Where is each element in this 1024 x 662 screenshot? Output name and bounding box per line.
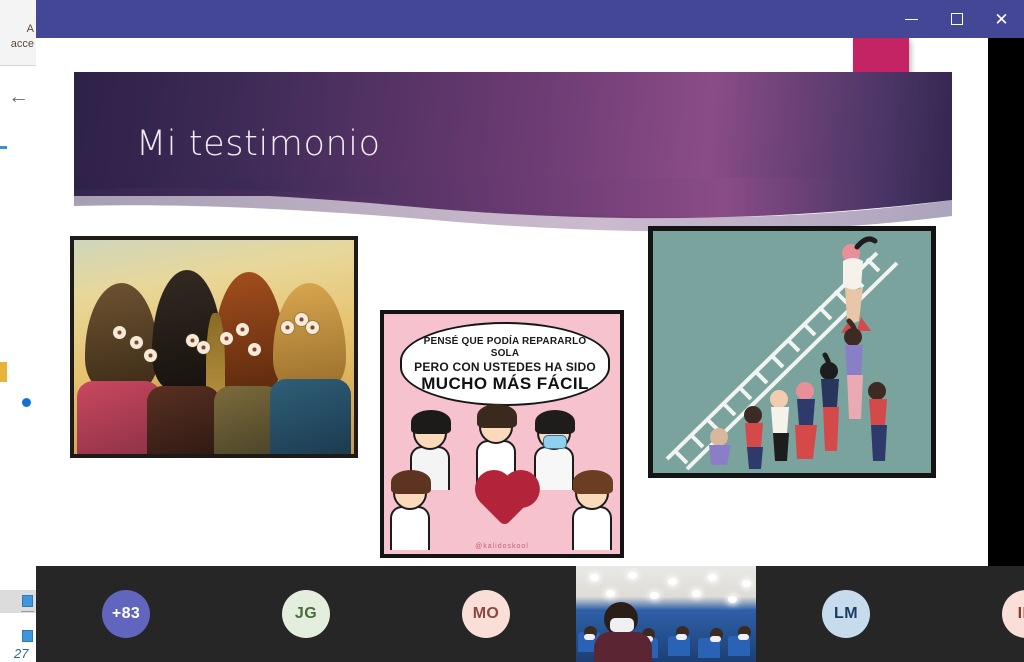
video-feed xyxy=(576,566,756,662)
screen-share-window: ✕ xyxy=(36,0,1024,662)
document-icon[interactable] xyxy=(22,595,33,607)
document-icon[interactable] xyxy=(22,630,33,642)
arrow-left-icon[interactable]: ← xyxy=(8,86,32,108)
avatar: IR xyxy=(1002,590,1024,638)
ladder-svg xyxy=(653,231,931,473)
divider xyxy=(21,611,34,612)
participant-tile-ir[interactable]: IR xyxy=(936,566,1024,662)
face-mask-icon xyxy=(543,435,567,449)
speech-line-1: PENSÉ QUE PODÍA REPARARLO SOLA xyxy=(412,336,598,360)
yellow-marker xyxy=(0,362,7,382)
blue-marker xyxy=(0,146,7,149)
speech-bubble: PENSÉ QUE PODÍA REPARARLO SOLA PERO CON … xyxy=(400,322,610,406)
background-window-toolbar: A acce xyxy=(0,0,36,66)
background-toolbar-text: A acce xyxy=(11,22,34,52)
figure-climber xyxy=(841,239,875,333)
avatar: JG xyxy=(282,590,330,638)
avatar: +83 xyxy=(102,590,150,638)
shared-slide: Mi testimonio xyxy=(36,38,988,566)
cartoon-friends-mending-heart: PENSÉ QUE PODÍA REPARARLO SOLA PERO CON … xyxy=(380,310,624,558)
avatar: MO xyxy=(462,590,510,638)
blue-dot-indicator xyxy=(22,398,31,407)
minimize-button[interactable] xyxy=(889,0,934,38)
painting-four-women xyxy=(70,236,358,458)
background-toolbar-text-line2: acce xyxy=(11,37,34,52)
window-controls: ✕ xyxy=(889,0,1024,38)
minimize-icon xyxy=(905,19,918,20)
participant-tile-overflow-count[interactable]: +83 xyxy=(36,566,216,662)
page-title: Mi testimonio xyxy=(136,124,381,164)
image-credit: @kalidoskool xyxy=(475,543,529,550)
speech-line-2: PERO CON USTEDES HA SIDO xyxy=(414,360,596,374)
figure-group xyxy=(709,321,887,469)
maximize-button[interactable] xyxy=(934,0,979,38)
participant-tile-lm[interactable]: LM xyxy=(756,566,936,662)
page-number: 27 xyxy=(14,646,28,661)
participant-tile-jg[interactable]: JG xyxy=(216,566,396,662)
window-titlebar: ✕ xyxy=(36,0,1024,38)
participant-filmstrip: +83 JG MO xyxy=(36,566,1024,662)
speech-line-3: MUCHO MÁS FÁCIL xyxy=(421,374,588,393)
close-button[interactable]: ✕ xyxy=(979,0,1024,38)
broken-heart-icon xyxy=(481,476,532,527)
background-toolbar-text-line1: A xyxy=(11,22,34,37)
avatar: LM xyxy=(822,590,870,638)
participant-tile-auditorium-video[interactable] xyxy=(576,566,756,662)
illustration-women-ladder xyxy=(648,226,936,478)
close-icon: ✕ xyxy=(994,11,1008,28)
participant-tile-mo[interactable]: MO xyxy=(396,566,576,662)
maximize-icon xyxy=(951,13,963,25)
